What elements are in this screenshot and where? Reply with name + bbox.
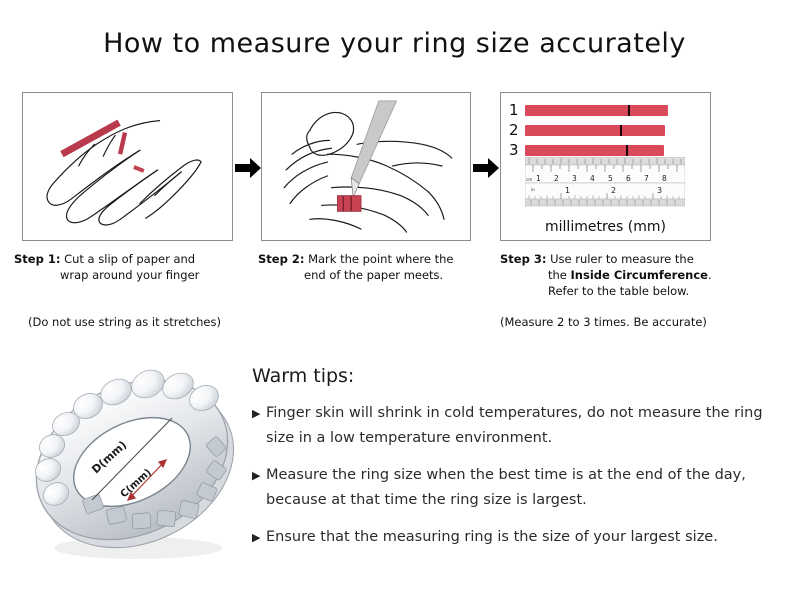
tip-text: Measure the ring size when the best time… <box>266 463 772 513</box>
svg-text:5: 5 <box>608 174 613 183</box>
step-3-inside-circumference-emphasis: Inside Circumference <box>571 268 708 282</box>
step-2-line2: end of the paper meets. <box>258 267 488 283</box>
svg-text:2: 2 <box>554 174 559 183</box>
measured-strip-row: 3 <box>509 143 664 158</box>
step-3-line3: Refer to the table below. <box>500 283 750 299</box>
arrow-step2-to-step3 <box>473 157 499 179</box>
step-1-label: Step 1: <box>14 252 60 266</box>
step-1-caption: Step 1: Cut a slip of paper and wrap aro… <box>14 251 250 283</box>
ring-diagram: D(mm) C(mm) <box>20 352 252 570</box>
step-3-line2: the Inside Circumference. <box>500 267 750 283</box>
step-1-note: (Do not use string as it stretches) <box>28 315 221 329</box>
red-paper-strip <box>525 105 668 116</box>
right-arrow-icon <box>235 157 261 179</box>
step-3-label: Step 3: <box>500 252 546 266</box>
svg-text:7: 7 <box>644 174 649 183</box>
triangle-bullet-icon: ▶ <box>252 401 266 426</box>
step-3-note: (Measure 2 to 3 times. Be accurate) <box>500 315 707 329</box>
step-3-line2-prefix: the <box>548 268 571 282</box>
svg-text:1: 1 <box>536 174 541 183</box>
step-2-line1: Mark the point where the <box>308 252 453 266</box>
svg-text:6: 6 <box>626 174 631 183</box>
strip-number: 2 <box>509 123 525 138</box>
red-paper-strip <box>525 145 664 156</box>
tip-item: ▶ Measure the ring size when the best ti… <box>252 463 772 513</box>
hand-with-pen-marking-strip-icon <box>262 93 470 240</box>
ruler-icon: 12 34 56 78 cm 123 in <box>525 157 685 209</box>
arrow-step1-to-step2 <box>235 157 261 179</box>
measured-strip-row: 2 <box>509 123 665 138</box>
strip-mark <box>628 105 630 116</box>
svg-text:4: 4 <box>590 174 595 183</box>
tip-text: Ensure that the measuring ring is the si… <box>266 525 718 550</box>
svg-text:8: 8 <box>662 174 667 183</box>
warm-tips-section: Warm tips: ▶ Finger skin will shrink in … <box>252 365 772 562</box>
hand-with-paper-strip-icon <box>23 93 232 240</box>
triangle-bullet-icon: ▶ <box>252 463 266 488</box>
svg-text:3: 3 <box>657 186 662 195</box>
step-3-line1: Use ruler to measure the <box>550 252 694 266</box>
svg-text:2: 2 <box>611 186 616 195</box>
step-3-caption: Step 3: Use ruler to measure the the Ins… <box>500 251 750 299</box>
strip-number: 1 <box>509 103 525 118</box>
page-title: How to measure your ring size accurately <box>0 28 789 59</box>
step-1-line1: Cut a slip of paper and <box>64 252 195 266</box>
diamond-eternity-ring-icon: D(mm) C(mm) <box>20 352 252 570</box>
step-2-illustration-panel <box>261 92 471 241</box>
strip-mark <box>620 125 622 136</box>
tip-item: ▶ Ensure that the measuring ring is the … <box>252 525 772 550</box>
step-3-line2-suffix: . <box>708 268 712 282</box>
step-2-label: Step 2: <box>258 252 304 266</box>
tip-text: Finger skin will shrink in cold temperat… <box>266 401 772 451</box>
step-1-illustration-panel <box>22 92 233 241</box>
ruler-unit-label: millimetres (mm) <box>501 219 710 235</box>
svg-text:1: 1 <box>565 186 570 195</box>
strip-mark <box>626 145 628 156</box>
step-1-line2: wrap around your finger <box>14 267 250 283</box>
warm-tips-heading: Warm tips: <box>252 365 772 387</box>
step-2-caption: Step 2: Mark the point where the end of … <box>258 251 488 283</box>
step-3-illustration-panel: 1 2 3 <box>500 92 711 241</box>
svg-text:in: in <box>531 187 535 192</box>
tip-item: ▶ Finger skin will shrink in cold temper… <box>252 401 772 451</box>
triangle-bullet-icon: ▶ <box>252 525 266 550</box>
red-paper-strip <box>525 125 665 136</box>
measured-strip-row: 1 <box>509 103 668 118</box>
svg-text:3: 3 <box>572 174 577 183</box>
strip-number: 3 <box>509 143 525 158</box>
svg-text:cm: cm <box>526 177 532 182</box>
right-arrow-icon <box>473 157 499 179</box>
